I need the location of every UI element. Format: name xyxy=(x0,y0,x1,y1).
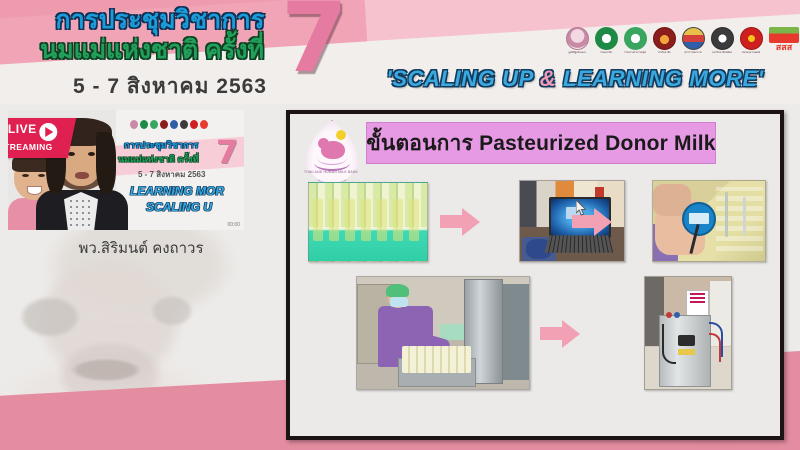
photo-milk-bottles-rack xyxy=(308,182,428,262)
conference-date: 5 - 7 สิงหาคม 2563 xyxy=(58,70,282,103)
sss-logo-text: สสส xyxy=(768,43,800,52)
milk-bottle xyxy=(409,199,419,241)
milk-bottle xyxy=(313,199,323,241)
logo-mark xyxy=(682,27,705,50)
poster-logo-2 xyxy=(140,120,148,129)
live-streaming-badge: LIVE STREAMING xyxy=(8,118,76,158)
laptop-keyboard xyxy=(545,235,614,253)
conference-title-line1: การประชุมวิชาการ xyxy=(24,4,296,37)
logo-caption-text: THAILAND HUMAN MILK BANK xyxy=(298,170,364,174)
arrow-head xyxy=(462,208,480,236)
royal-college-logo: ราชวิทยาลัย xyxy=(652,27,676,57)
logo-mark xyxy=(740,27,763,50)
digital-thermometer-icon xyxy=(682,202,716,236)
mouse-cursor xyxy=(576,200,588,218)
mahidol-logo: มหาวิทยาลัยมหิดล xyxy=(710,27,734,57)
tagline-ampersand: & xyxy=(540,66,557,91)
photo-pasteurizer-machine xyxy=(644,276,732,390)
sign-line xyxy=(690,297,704,299)
logo-mark xyxy=(624,27,647,50)
poster-logo-3 xyxy=(150,120,158,129)
conference-tagline: 'SCALING UP & LEARNING MORE' xyxy=(360,66,790,92)
arrow-shaft xyxy=(440,215,464,228)
tagline-part1: 'SCALING UP xyxy=(386,66,539,91)
logo-caption: มูลนิธิศูนย์นมแม่ xyxy=(565,51,589,57)
logo-caption: ราชวิทยาลัย xyxy=(652,51,676,57)
tube-right xyxy=(743,197,746,235)
human-milk-bank-droplet-logo: THAILAND HUMAN MILK BANK xyxy=(298,118,364,184)
slide-header-title-box: ขั้นตอนการ Pasteurized Donor Milk xyxy=(366,122,716,164)
poster-title-line2: นมแม่แห่งชาติ ครั้งที่ xyxy=(118,152,199,166)
presentation-slide-panel: THAILAND HUMAN MILK BANK ขั้นตอนการ Past… xyxy=(286,110,784,440)
milk-bottles-in-tray xyxy=(402,346,471,373)
machine-door-right xyxy=(503,284,529,380)
arrow-shaft xyxy=(540,327,564,340)
logo-mark xyxy=(566,27,589,50)
thaihealth-sss-logo: สสส xyxy=(768,27,800,57)
poster-logo-1 xyxy=(130,120,138,129)
milk-bottle xyxy=(329,199,339,241)
tube-left xyxy=(725,192,728,237)
logo-mark xyxy=(595,27,618,50)
speaker-eye-left xyxy=(68,152,75,156)
red-hose xyxy=(709,333,721,362)
nurse-face-mask xyxy=(390,297,408,307)
slide-header-title: ขั้นตอนการ Pasteurized Donor Milk xyxy=(366,127,715,160)
streaming-badge-label: STREAMING xyxy=(8,142,53,152)
milk-storage-bag xyxy=(716,187,763,251)
speaker-mouth xyxy=(75,172,89,179)
logo-caption: สภาการพยาบาล xyxy=(681,51,705,57)
nurse-surgical-cap xyxy=(386,284,409,297)
slide-screenshot: การประชุมวิชาการ นมแม่แห่งชาติ ครั้งที่ … xyxy=(0,0,800,450)
webcam-background-poster: การประชุมวิชาการ นมแม่แห่งชาติ ครั้งที่ … xyxy=(116,110,244,230)
milk-bottle xyxy=(361,199,371,241)
webcam-timer: 00:00 xyxy=(227,222,240,228)
conference-title-line2: นมแม่แห่งชาติ ครั้งที่ xyxy=(8,34,296,67)
pediatric-society-logo: ชมรมกุมารแพทย์ xyxy=(739,27,763,57)
arrow-head xyxy=(594,208,612,236)
sign-line xyxy=(690,293,704,295)
poster-edition-number: 7 xyxy=(216,136,238,168)
droplet-shape-icon xyxy=(304,120,360,184)
organization-logo-row: มูลนิธิศูนย์นมแม่ กรมอนามัย กระทรวงสาธาร… xyxy=(565,27,800,57)
conference-banner: การประชุมวิชาการ นมแม่แห่งชาติ ครั้งที่ … xyxy=(0,0,800,104)
speaker-name-label: พว.สิริมนต์ คงถาวร xyxy=(26,236,256,260)
live-badge-label: LIVE xyxy=(8,122,37,136)
poster-tagline-line2: SCALING U xyxy=(146,200,212,214)
speaker-hair-right xyxy=(96,132,116,194)
arrow-head xyxy=(562,320,580,348)
sign-line xyxy=(690,301,704,303)
logo-mark xyxy=(653,27,676,50)
arrow-step-1-to-2 xyxy=(440,206,480,236)
nursing-council-logo: สภาการพยาบาล xyxy=(681,27,705,57)
logo-caption: กระทรวงสาธารณสุข xyxy=(623,51,647,57)
conference-edition-number: 7 xyxy=(281,0,348,86)
cradle-arm-outer xyxy=(314,155,350,171)
poster-logo-row xyxy=(130,120,208,129)
thai-royal-emblem-logo: มูลนิธิศูนย์นมแม่ xyxy=(565,27,589,57)
department-health-logo: กระทรวงสาธารณสุข xyxy=(623,27,647,57)
child-eye-left xyxy=(22,174,29,177)
arrow-step-4-to-5 xyxy=(540,318,580,348)
logo-mark xyxy=(711,27,734,50)
power-cord xyxy=(662,324,676,364)
photo-hand-thermometer xyxy=(652,180,766,262)
milk-bottle xyxy=(377,199,387,241)
machine-yellow-label xyxy=(678,349,695,356)
logo-caption: มหาวิทยาลัยมหิดล xyxy=(710,51,734,57)
droplet-yellow-dot xyxy=(336,130,346,140)
poster-title-line1: การประชุมวิชาการ xyxy=(124,138,198,152)
poster-logo-8 xyxy=(200,120,208,129)
webcam-video-inset[interactable]: การประชุมวิชาการ นมแม่แห่งชาติ ครั้งที่ … xyxy=(8,110,244,230)
poster-logo-5 xyxy=(170,120,178,129)
milk-bottle xyxy=(345,199,355,241)
logo-caption: กรมอนามัย xyxy=(594,51,618,57)
machine-knob-red xyxy=(666,312,672,318)
play-icon xyxy=(39,123,57,141)
poster-tagline-line1: LEARNING MOR xyxy=(130,184,224,198)
ministry-public-health-logo: กรมอนามัย xyxy=(594,27,618,57)
machine-knob-blue xyxy=(674,312,680,318)
poster-logo-6 xyxy=(180,120,188,129)
poster-date: 5 - 7 สิงหาคม 2563 xyxy=(138,168,205,181)
background-child-photo-detail xyxy=(60,355,152,385)
speaker-shirt-pattern xyxy=(68,198,94,228)
poster-logo-4 xyxy=(160,120,168,129)
tagline-part2: LEARNING MORE' xyxy=(556,66,763,91)
photo-nurse-at-pasteurizer xyxy=(356,276,530,390)
logo-mark xyxy=(769,27,799,43)
logo-caption: ชมรมกุมารแพทย์ xyxy=(739,51,763,57)
milk-bottle xyxy=(393,199,403,241)
poster-logo-7 xyxy=(190,120,198,129)
speaker-eye-right xyxy=(88,152,95,156)
machine-display-panel xyxy=(678,335,695,346)
